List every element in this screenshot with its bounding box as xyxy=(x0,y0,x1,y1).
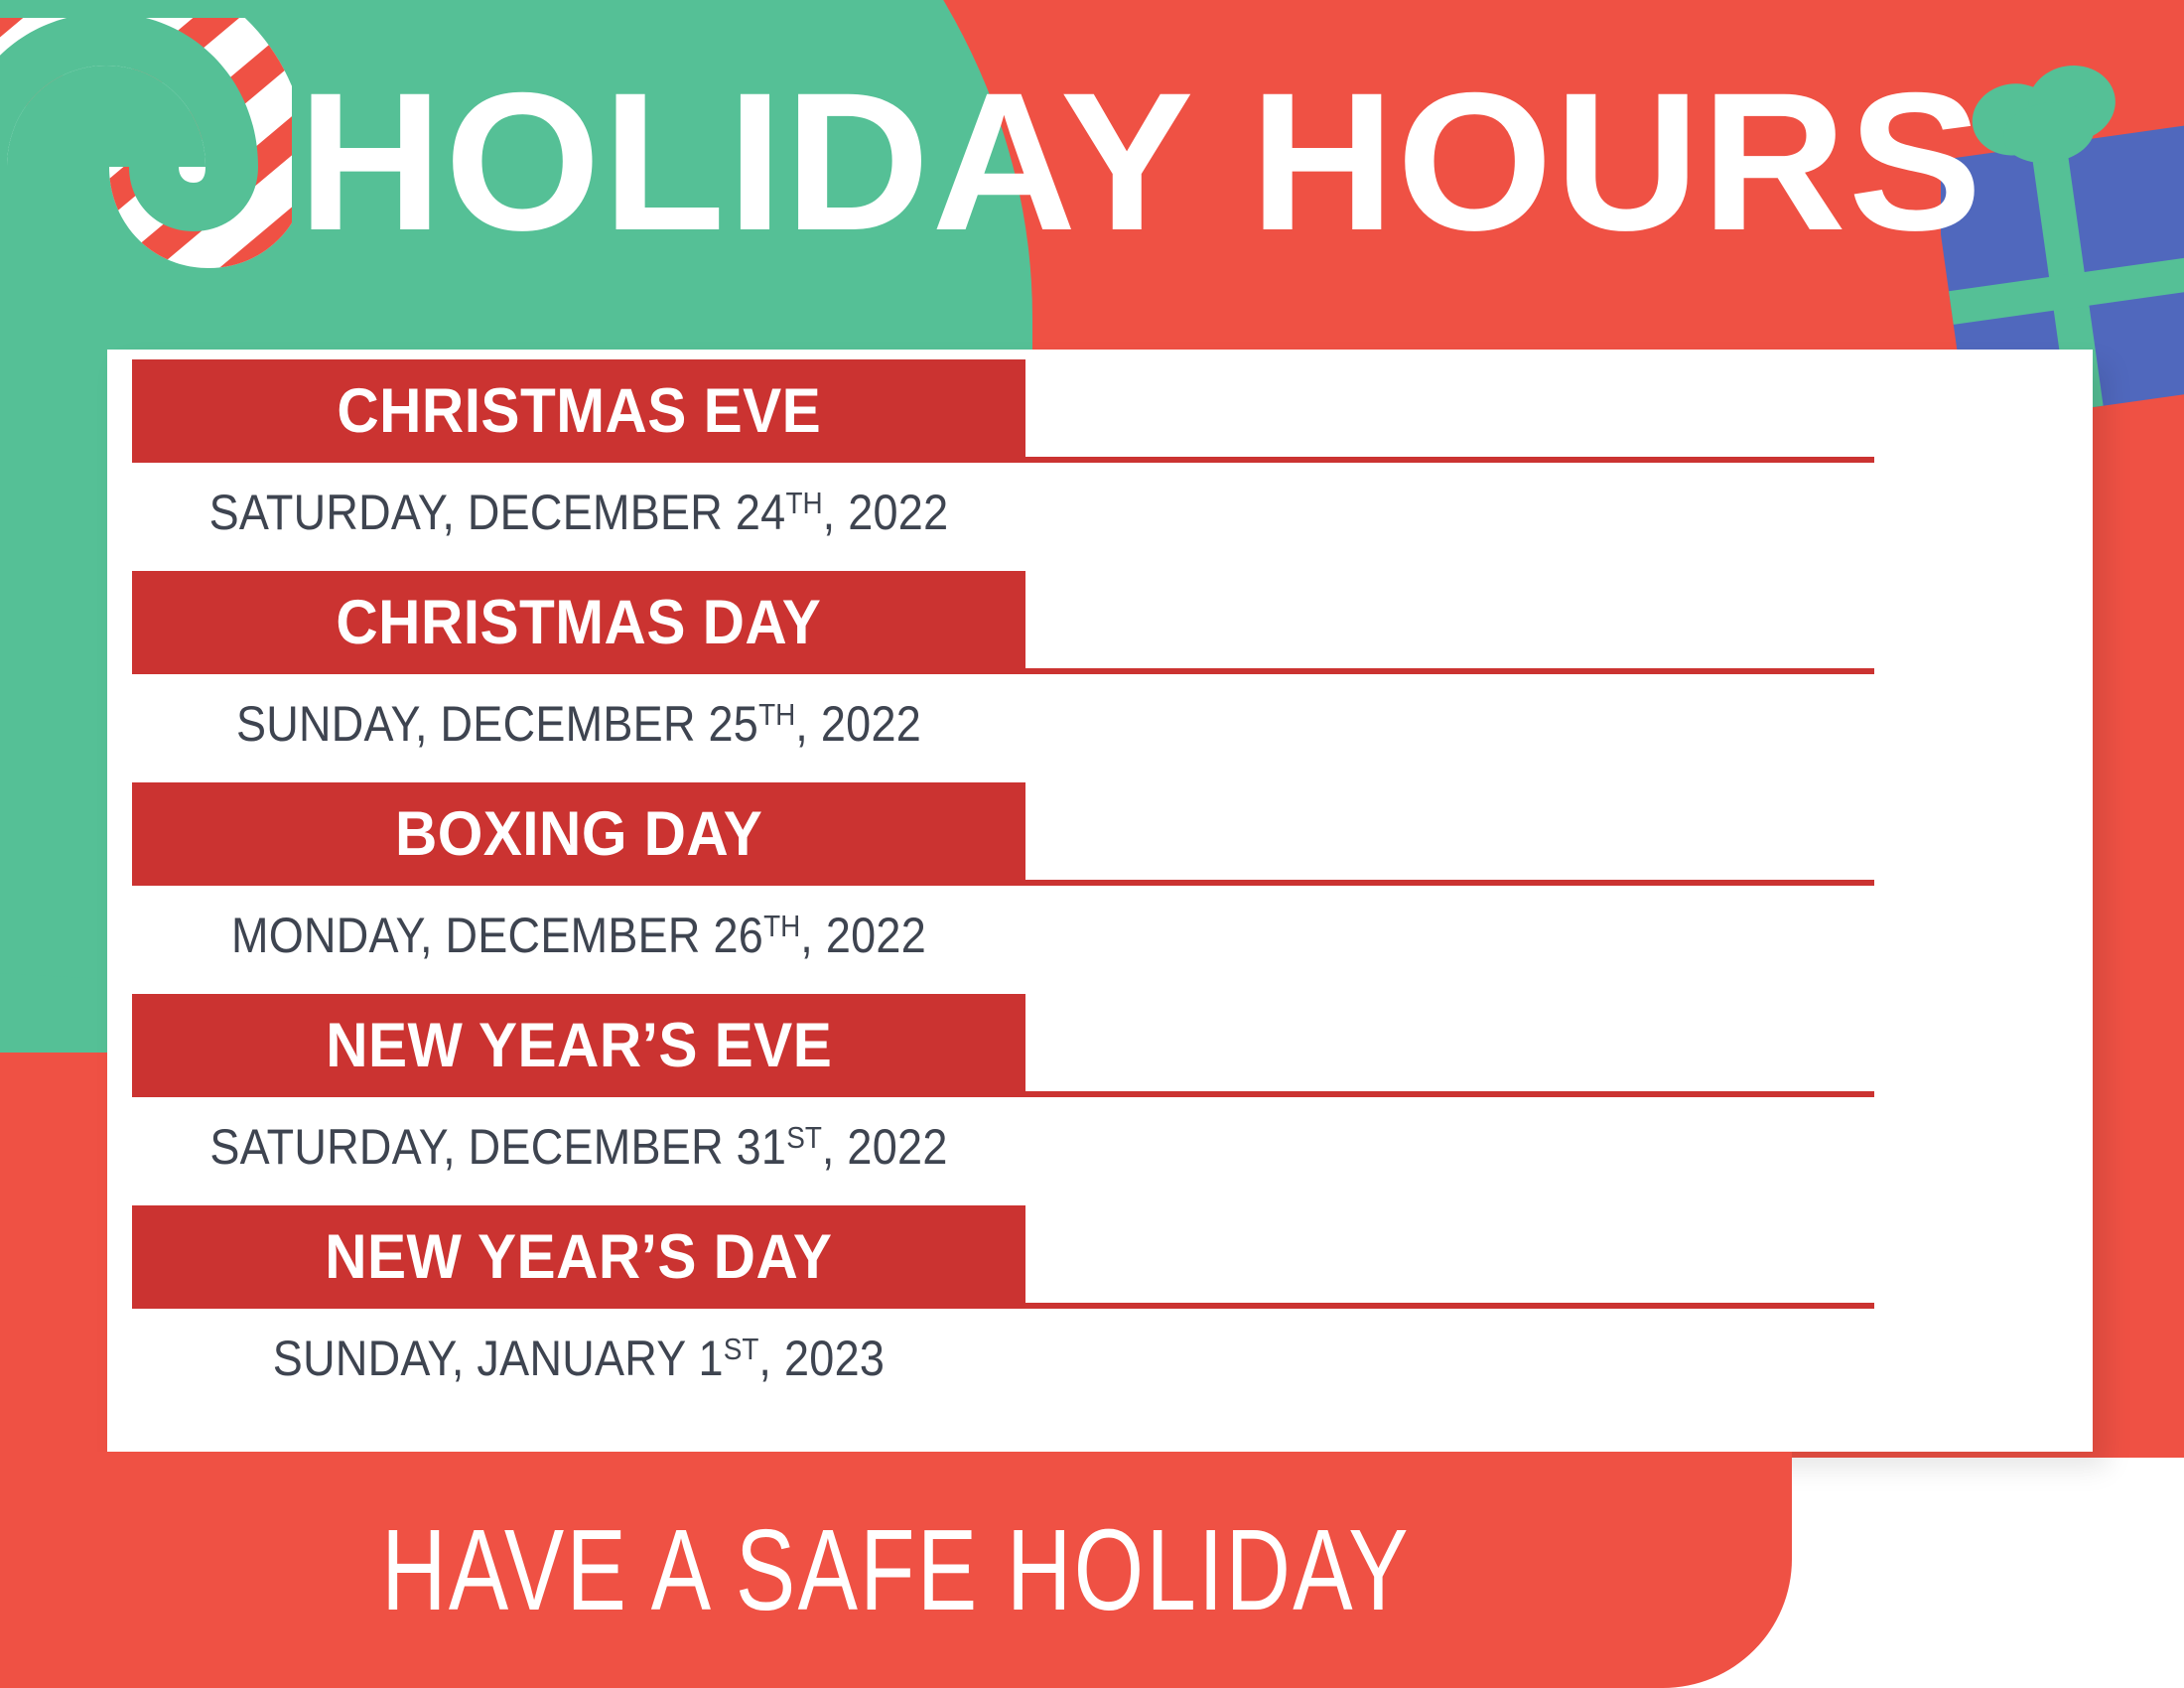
date-ordinal: TH xyxy=(785,486,822,520)
date-weekday: SATURDAY, xyxy=(209,485,455,540)
date-ordinal: TH xyxy=(758,697,795,732)
date-year: 2022 xyxy=(821,696,921,752)
row-divider-rule xyxy=(1025,880,1874,886)
row-divider-rule xyxy=(1025,668,1874,674)
schedule-row: NEW YEAR’S EVE SATURDAY, DECEMBER 31ST, … xyxy=(107,984,2093,1196)
date-day: 31 xyxy=(737,1119,787,1175)
holiday-plate: CHRISTMAS EVE xyxy=(132,359,1025,463)
date-weekday: SUNDAY, xyxy=(236,696,428,752)
date-year: 2022 xyxy=(826,908,926,963)
holiday-date: SATURDAY, DECEMBER 24TH, 2022 xyxy=(177,473,981,543)
date-ordinal: ST xyxy=(724,1332,759,1366)
holiday-date: SUNDAY, DECEMBER 25TH, 2022 xyxy=(177,684,981,755)
schedule-card: CHRISTMAS EVE SATURDAY, DECEMBER 24TH, 2… xyxy=(107,350,2093,1452)
holiday-date: SUNDAY, JANUARY 1ST, 2023 xyxy=(177,1319,981,1389)
date-ordinal: TH xyxy=(763,909,800,943)
date-year: 2023 xyxy=(784,1331,885,1386)
holiday-plate: CHRISTMAS DAY xyxy=(132,571,1025,674)
date-day: 1 xyxy=(698,1331,723,1386)
holiday-plate: BOXING DAY xyxy=(132,782,1025,886)
schedule-row: CHRISTMAS DAY SUNDAY, DECEMBER 25TH, 202… xyxy=(107,561,2093,773)
holiday-name: CHRISTMAS DAY xyxy=(337,590,822,655)
date-ordinal: ST xyxy=(786,1120,822,1155)
row-divider-rule xyxy=(1025,1303,1874,1309)
date-month: JANUARY xyxy=(477,1331,685,1386)
schedule-row: NEW YEAR’S DAY SUNDAY, JANUARY 1ST, 2023 xyxy=(107,1196,2093,1407)
row-divider-rule xyxy=(1025,1091,1874,1097)
date-month: DECEMBER xyxy=(469,1119,724,1175)
page-title: HOLIDAY HOURS xyxy=(298,60,1979,268)
date-month: DECEMBER xyxy=(441,696,696,752)
date-year: 2022 xyxy=(847,1119,947,1175)
date-day: 26 xyxy=(713,908,763,963)
holiday-hours-poster: HOLIDAY HOURS CHRISTMAS EVE SATURDAY, DE… xyxy=(0,0,2184,1688)
date-day: 25 xyxy=(709,696,759,752)
row-divider-rule xyxy=(1025,457,1874,463)
holiday-name: BOXING DAY xyxy=(395,801,762,867)
date-month: DECEMBER xyxy=(468,485,723,540)
holiday-name: NEW YEAR’S DAY xyxy=(325,1224,832,1290)
date-month: DECEMBER xyxy=(446,908,701,963)
date-weekday: MONDAY, xyxy=(231,908,433,963)
schedule-rows: CHRISTMAS EVE SATURDAY, DECEMBER 24TH, 2… xyxy=(107,350,2093,1407)
holiday-name: NEW YEAR’S EVE xyxy=(326,1013,832,1078)
footer-banner: HAVE A SAFE HOLIDAY xyxy=(0,1452,1792,1688)
date-day: 24 xyxy=(736,485,786,540)
holiday-plate: NEW YEAR’S DAY xyxy=(132,1205,1025,1309)
date-weekday: SATURDAY, xyxy=(209,1119,455,1175)
date-year: 2022 xyxy=(848,485,948,540)
footer-message: HAVE A SAFE HOLIDAY xyxy=(381,1510,1411,1629)
holiday-date: SATURDAY, DECEMBER 31ST, 2022 xyxy=(177,1107,981,1178)
schedule-row: BOXING DAY MONDAY, DECEMBER 26TH, 2022 xyxy=(107,773,2093,984)
date-weekday: SUNDAY, xyxy=(273,1331,465,1386)
holiday-name: CHRISTMAS EVE xyxy=(337,378,821,444)
holiday-plate: NEW YEAR’S EVE xyxy=(132,994,1025,1097)
schedule-row: CHRISTMAS EVE SATURDAY, DECEMBER 24TH, 2… xyxy=(107,350,2093,561)
holiday-date: MONDAY, DECEMBER 26TH, 2022 xyxy=(177,896,981,966)
